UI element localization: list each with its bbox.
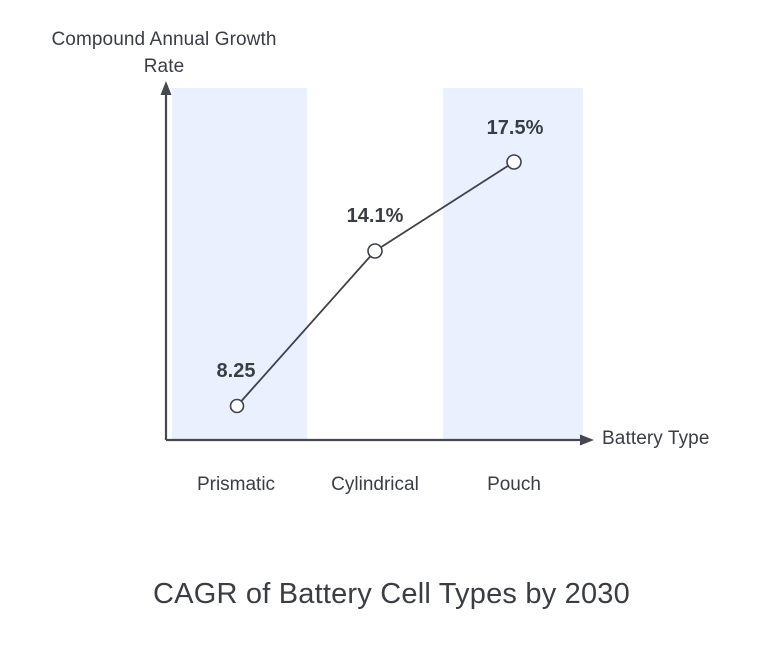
category-band-prismatic [172, 88, 307, 440]
data-label-prismatic: 8.25 [217, 360, 256, 383]
y-axis-arrow-icon [161, 81, 172, 95]
chart-title: CAGR of Battery Cell Types by 2030 [0, 578, 783, 611]
data-label-pouch: 17.5% [487, 117, 544, 140]
data-point-marker-cylindrical [368, 244, 382, 258]
data-label-cylindrical: 14.1% [347, 205, 404, 228]
x-tick-label-cylindrical: Cylindrical [331, 474, 419, 496]
plot-area [0, 0, 783, 654]
category-band-pouch [443, 88, 583, 440]
x-tick-label-prismatic: Prismatic [197, 474, 275, 496]
x-axis-arrow-icon [580, 435, 594, 446]
x-tick-label-pouch: Pouch [487, 474, 541, 496]
chart-container: Compound Annual Growth Rate 8.25 14.1% 1… [0, 0, 783, 654]
data-point-marker-prismatic [231, 400, 244, 413]
x-axis-label: Battery Type [602, 428, 710, 450]
data-point-marker-pouch [507, 155, 521, 169]
